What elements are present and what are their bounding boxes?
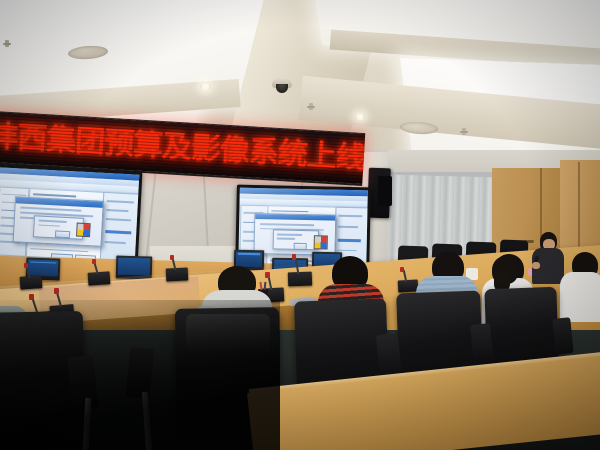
sprinkler-3 xyxy=(309,103,313,110)
microphone-base-3 xyxy=(166,267,189,281)
microphone-base-4 xyxy=(288,272,312,287)
downlight-1 xyxy=(200,82,211,91)
microphone-base-1 xyxy=(20,275,43,290)
wall-speaker-grille xyxy=(378,176,392,206)
conference-room-photo: 沣西集团预算及影像系统上线培训会 xyxy=(0,0,600,450)
desk-monitor-2-screen xyxy=(118,257,150,275)
chair-arm-5[interactable] xyxy=(552,317,574,355)
foreground-shadow xyxy=(0,300,280,450)
microphone-tip-1 xyxy=(24,263,28,268)
presenter-hand xyxy=(532,262,540,269)
projection-screen-left-display xyxy=(0,167,139,266)
microphone-tip-8 xyxy=(400,267,404,272)
chair-arm-3[interactable] xyxy=(376,333,402,379)
desk-monitor-4-screen xyxy=(236,251,263,267)
projection-screen-left[interactable] xyxy=(0,164,142,270)
desk-monitor-1-screen xyxy=(28,259,58,277)
sprinkler-4 xyxy=(462,128,466,135)
downlight-2 xyxy=(355,113,365,121)
attendee-white-top-3-body xyxy=(560,272,600,322)
sprinkler-1 xyxy=(5,40,9,47)
microphone-tip-4 xyxy=(292,254,296,260)
microphone-tip-6 xyxy=(54,288,59,294)
microphone-tip-7 xyxy=(265,272,270,278)
chair-arm-4[interactable] xyxy=(470,323,494,365)
microphone-tip-3 xyxy=(170,255,174,260)
microphone-base-2 xyxy=(88,271,111,286)
microphone-tip-2 xyxy=(92,259,96,264)
